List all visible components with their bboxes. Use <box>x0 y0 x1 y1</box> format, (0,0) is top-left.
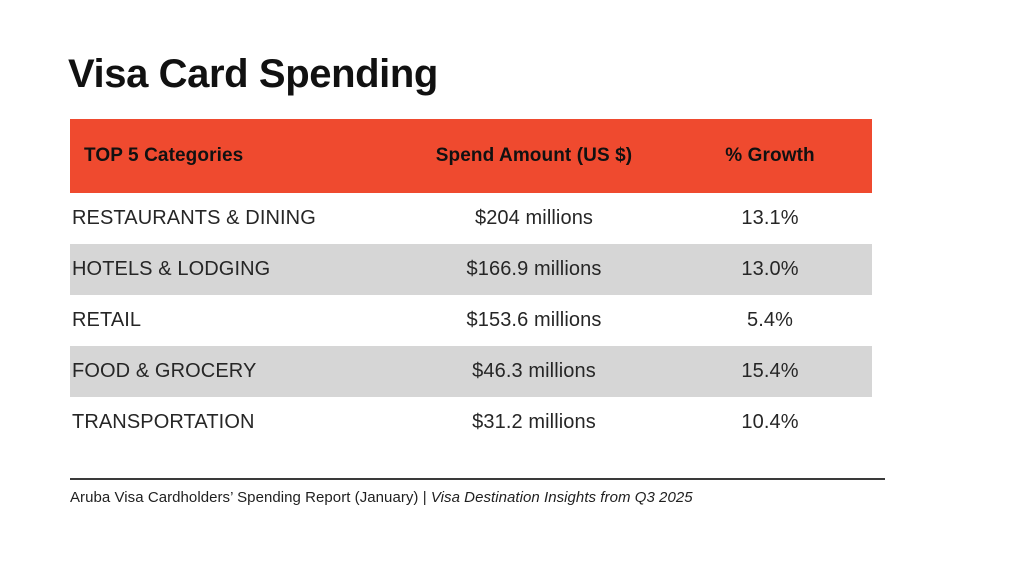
cell-amount: $46.3 millions <box>400 346 668 397</box>
table-header-row: TOP 5 Categories Spend Amount (US $) % G… <box>70 119 872 193</box>
table-row: RETAIL $153.6 millions 5.4% <box>70 295 872 346</box>
table-row: TRANSPORTATION $31.2 millions 10.4% <box>70 397 872 448</box>
table-body: RESTAURANTS & DINING $204 millions 13.1%… <box>70 193 872 448</box>
cell-category: HOTELS & LODGING <box>70 244 400 295</box>
table-row: HOTELS & LODGING $166.9 millions 13.0% <box>70 244 872 295</box>
table-row: RESTAURANTS & DINING $204 millions 13.1% <box>70 193 872 244</box>
column-header-growth: % Growth <box>668 119 872 193</box>
cell-category: RETAIL <box>70 295 400 346</box>
page-title: Visa Card Spending <box>68 51 438 97</box>
cell-growth: 10.4% <box>668 397 872 448</box>
cell-growth: 5.4% <box>668 295 872 346</box>
cell-category: RESTAURANTS & DINING <box>70 193 400 244</box>
cell-category: FOOD & GROCERY <box>70 346 400 397</box>
cell-amount: $153.6 millions <box>400 295 668 346</box>
source-note: Aruba Visa Cardholders’ Spending Report … <box>70 489 693 506</box>
cell-growth: 13.1% <box>668 193 872 244</box>
cell-growth: 13.0% <box>668 244 872 295</box>
cell-amount: $204 millions <box>400 193 668 244</box>
table-row: FOOD & GROCERY $46.3 millions 15.4% <box>70 346 872 397</box>
table-header: TOP 5 Categories Spend Amount (US $) % G… <box>70 119 872 193</box>
spending-table: TOP 5 Categories Spend Amount (US $) % G… <box>70 119 872 448</box>
cell-growth: 15.4% <box>668 346 872 397</box>
cell-amount: $166.9 millions <box>400 244 668 295</box>
source-note-italic: Visa Destination Insights from Q3 2025 <box>431 489 693 506</box>
column-header-spend-amount: Spend Amount (US $) <box>400 119 668 193</box>
footer-divider <box>70 478 885 480</box>
slide-canvas: Visa Card Spending TOP 5 Categories Spen… <box>0 0 1024 576</box>
cell-category: TRANSPORTATION <box>70 397 400 448</box>
cell-amount: $31.2 millions <box>400 397 668 448</box>
column-header-categories: TOP 5 Categories <box>70 119 400 193</box>
source-note-main: Aruba Visa Cardholders’ Spending Report … <box>70 489 431 506</box>
